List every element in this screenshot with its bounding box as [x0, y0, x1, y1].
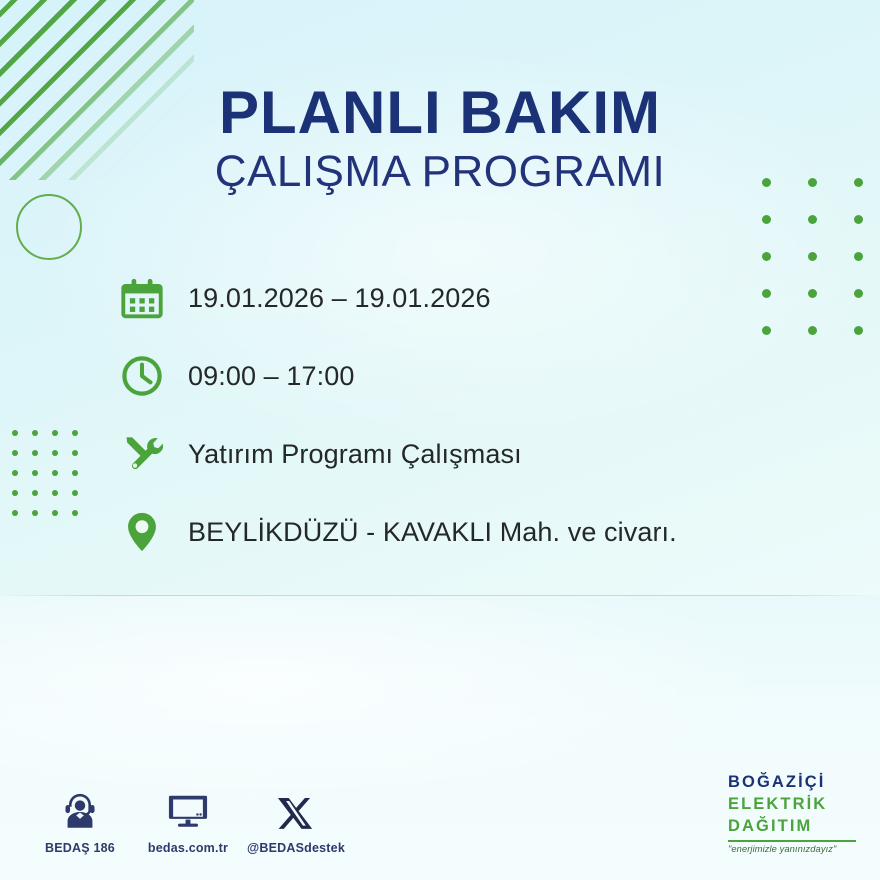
info-panel: PLANLI BAKIM ÇALIŞMA PROGRAMI — [0, 0, 880, 596]
dot — [854, 215, 863, 224]
contact-phone[interactable]: BEDAŞ 186 — [26, 784, 134, 855]
detail-row-worktype: Yatırım Programı Çalışması — [116, 428, 677, 480]
brand-tagline: "enerjimizle yanınızdayız" — [728, 844, 860, 854]
dot — [72, 510, 78, 516]
brand-logo: BOĞAZİÇİ ELEKTRİK DAĞITIM "enerjimizle y… — [728, 772, 860, 854]
dot — [808, 289, 817, 298]
dot — [12, 450, 18, 456]
dot — [72, 450, 78, 456]
dot — [72, 490, 78, 496]
calendar-icon — [116, 272, 168, 324]
dot — [12, 490, 18, 496]
dot — [808, 326, 817, 335]
dot — [32, 430, 38, 436]
dot — [32, 450, 38, 456]
brand-rule — [728, 840, 856, 842]
dot — [808, 215, 817, 224]
clock-icon — [116, 350, 168, 402]
dot — [762, 326, 771, 335]
dot-grid-left-decoration — [12, 430, 78, 516]
dot — [762, 252, 771, 261]
dot — [72, 430, 78, 436]
circle-outline-decoration — [16, 194, 82, 260]
brand-line-dagitim: DAĞITIM — [728, 816, 860, 838]
dot — [12, 510, 18, 516]
detail-row-time: 09:00 – 17:00 — [116, 350, 677, 402]
contact-links: BEDAŞ 186 bedas.com.tr — [26, 784, 350, 855]
tools-icon — [116, 428, 168, 480]
contact-x[interactable]: @BEDASdestek — [242, 784, 350, 855]
brand-line-bogazici: BOĞAZİÇİ — [728, 772, 860, 794]
location-pin-icon — [116, 506, 168, 558]
maintenance-details-list: 19.01.2026 – 19.01.2026 09:00 – 17:00 — [116, 272, 677, 558]
page-subtitle: ÇALIŞMA PROGRAMI — [0, 148, 880, 196]
dot — [12, 430, 18, 436]
support-headset-icon — [59, 784, 101, 832]
contact-phone-label: BEDAŞ 186 — [45, 841, 115, 855]
poster-heading: PLANLI BAKIM ÇALIŞMA PROGRAMI — [0, 82, 880, 197]
desktop-monitor-icon — [167, 784, 209, 832]
dot — [854, 289, 863, 298]
detail-row-date: 19.01.2026 – 19.01.2026 — [116, 272, 677, 324]
dot — [762, 289, 771, 298]
dot — [52, 470, 58, 476]
planned-maintenance-poster: PLANLI BAKIM ÇALIŞMA PROGRAMI — [0, 0, 880, 880]
contact-website-label: bedas.com.tr — [148, 841, 228, 855]
dot — [52, 430, 58, 436]
brand-line-elektrik: ELEKTRİK — [728, 794, 860, 816]
x-twitter-icon — [277, 784, 315, 832]
dot — [32, 470, 38, 476]
detail-time-range: 09:00 – 17:00 — [188, 361, 354, 392]
contact-x-label: @BEDASdestek — [247, 841, 345, 855]
dot — [808, 252, 817, 261]
detail-location: BEYLİKDÜZÜ - KAVAKLI Mah. ve civarı. — [188, 517, 677, 548]
dot — [52, 510, 58, 516]
detail-work-type: Yatırım Programı Çalışması — [188, 439, 522, 470]
dot — [762, 215, 771, 224]
dot — [32, 510, 38, 516]
dot — [32, 490, 38, 496]
detail-row-location: BEYLİKDÜZÜ - KAVAKLI Mah. ve civarı. — [116, 506, 677, 558]
contact-website[interactable]: bedas.com.tr — [134, 784, 242, 855]
dot — [52, 490, 58, 496]
dot — [854, 252, 863, 261]
dot-grid-right-decoration — [762, 178, 863, 335]
dot — [52, 450, 58, 456]
page-title: PLANLI BAKIM — [0, 82, 880, 144]
dot — [12, 470, 18, 476]
dot — [72, 470, 78, 476]
detail-date-range: 19.01.2026 – 19.01.2026 — [188, 283, 491, 314]
dot — [854, 326, 863, 335]
